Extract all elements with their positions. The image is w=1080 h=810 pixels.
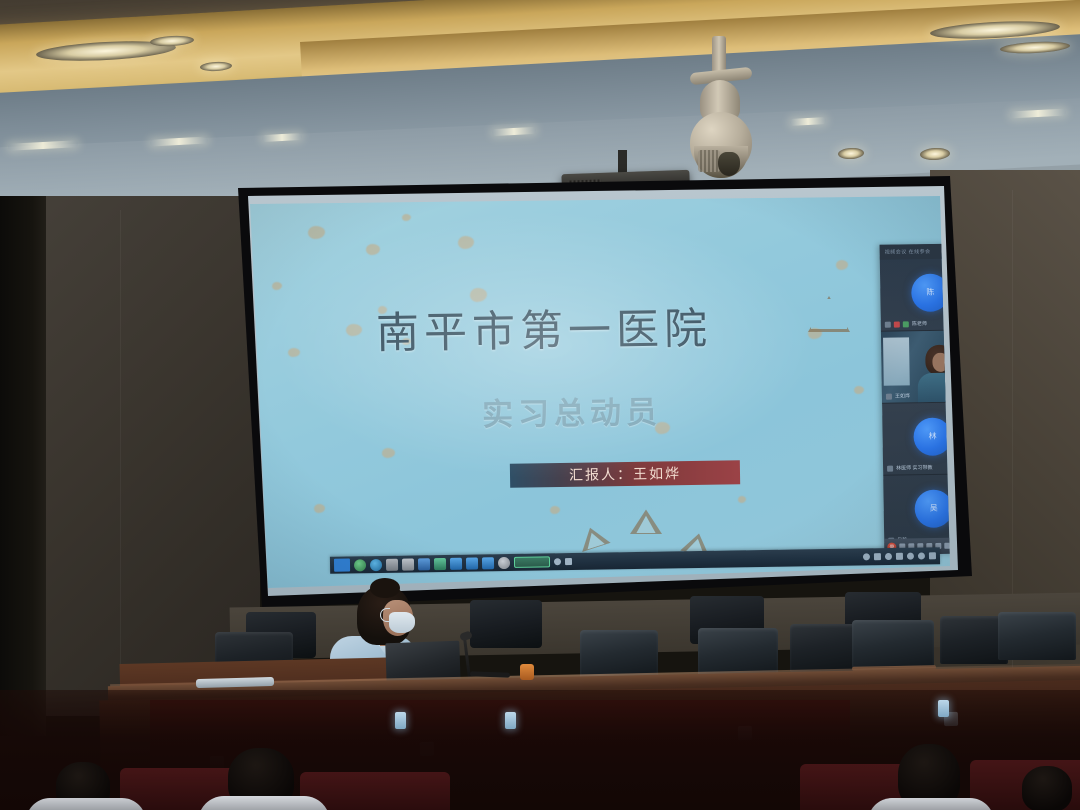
audience-phone-screen <box>395 712 406 729</box>
conference-hall-photo: 南平市第一医院 实习总动员 汇报人：王如烨 视频会议 在线参会 陈 陈老师 <box>0 0 1080 810</box>
projection-screen: 南平市第一医院 实习总动员 汇报人：王如烨 视频会议 在线参会 陈 陈老师 <box>250 196 950 588</box>
vc-participant-tile[interactable]: 吴 吴静 <box>883 474 950 548</box>
audience-head <box>1022 766 1072 810</box>
vc-participant-tile[interactable]: 陈 陈老师 <box>880 258 950 332</box>
audience-shoulders <box>868 798 994 810</box>
slide-decor-blob <box>288 348 300 357</box>
chair-back-row <box>470 600 542 648</box>
slide-presenter-name: 汇报人：王如烨 <box>569 463 681 485</box>
slide-decor-triangle-inner <box>575 522 610 552</box>
vc-participant-name-row: 王如烨 <box>886 392 910 399</box>
vc-participant-name-row: 林医师 实习带教 <box>887 464 932 472</box>
desk-object-orange <box>520 664 534 680</box>
slide-subtitle: 实习总动员 <box>482 387 663 435</box>
chair <box>998 612 1076 660</box>
slide-decor-blob <box>308 226 325 239</box>
tray-network-icon[interactable] <box>554 558 561 565</box>
mic-icon <box>886 393 892 399</box>
tray-sync-icon[interactable] <box>863 553 870 560</box>
host-icon <box>903 321 909 327</box>
vc-participant-tile[interactable]: 王如烨 <box>881 330 950 404</box>
start-icon[interactable] <box>334 558 350 571</box>
audience-phone-screen <box>505 712 516 729</box>
tray-extra-icon[interactable] <box>907 553 914 560</box>
vc-participant-label: 林医师 实习带教 <box>896 464 932 472</box>
slide-decor-blob <box>738 496 746 503</box>
vc-header-label: 视频会议 在线参会 <box>885 248 931 256</box>
slide-decor-blob <box>346 324 362 336</box>
vc-avatar: 吴 <box>914 489 950 528</box>
browser-icon[interactable] <box>354 559 366 571</box>
camera-off-icon <box>894 321 900 327</box>
chair <box>852 620 934 668</box>
tray-volume-icon[interactable] <box>565 558 572 565</box>
audience-phone-screen <box>938 700 949 717</box>
camera-ridges <box>698 150 720 172</box>
vc-participant-name-row: 陈老师 <box>885 320 927 328</box>
slide-decor-blob <box>550 506 560 514</box>
mic-icon <box>887 465 893 471</box>
slide-decor-blob <box>402 214 411 221</box>
slide-title: 南平市第一医院 <box>376 293 797 361</box>
taskbar-spacer <box>576 557 859 561</box>
vc-participant-label: 陈老师 <box>912 320 927 327</box>
vc-avatar: 林 <box>913 417 950 456</box>
folder-icon[interactable] <box>386 558 398 570</box>
tray-shield-icon[interactable] <box>885 553 892 560</box>
more-icon[interactable] <box>944 543 950 549</box>
audience-shoulders <box>26 798 146 810</box>
edge-icon[interactable] <box>370 558 382 570</box>
slide-decor-blob <box>836 260 848 270</box>
vc-background-window <box>883 337 910 385</box>
tray-battery-icon[interactable] <box>874 553 881 560</box>
vc-header: 视频会议 在线参会 <box>880 243 950 260</box>
video-conference-sidebar[interactable]: 视频会议 在线参会 陈 陈老师 <box>880 243 950 555</box>
chair <box>698 628 778 676</box>
mic-icon <box>885 321 891 327</box>
audience-shoulders <box>198 796 330 810</box>
slide-decor-blob <box>366 244 380 255</box>
app-icon[interactable] <box>498 556 510 568</box>
face-mask <box>389 612 415 633</box>
slide-presenter-banner: 汇报人：王如烨 <box>510 460 740 488</box>
left-wall-edge <box>0 196 46 736</box>
slide-decor-blob <box>382 448 395 458</box>
slide-decor-blob <box>854 386 864 394</box>
meeting-app3-icon[interactable] <box>482 557 494 569</box>
word-icon[interactable] <box>418 558 430 570</box>
camera-lens <box>718 152 740 176</box>
chair <box>790 624 860 672</box>
active-window-button[interactable] <box>514 556 550 568</box>
face-mask-strap <box>380 608 390 622</box>
chair <box>580 630 658 678</box>
tray-clock-icon[interactable] <box>929 552 936 559</box>
wall-seam <box>120 210 121 690</box>
tray-input-method-icon[interactable] <box>896 553 903 560</box>
meeting-app-icon[interactable] <box>450 557 462 569</box>
presenter-hair-bun <box>370 578 400 598</box>
powerpoint-icon[interactable] <box>434 557 446 569</box>
slide-decor-blob <box>272 282 282 290</box>
file-explorer-icon[interactable] <box>402 558 414 570</box>
slide-decor-triangle <box>808 296 844 326</box>
vc-participant-tile[interactable]: 林 林医师 实习带教 <box>882 402 950 476</box>
meeting-app2-icon[interactable] <box>466 557 478 569</box>
vc-participant-label: 王如烨 <box>895 392 910 399</box>
slide-decor-blob <box>314 504 325 513</box>
tray-extra2-icon[interactable] <box>918 552 925 559</box>
slide-decor-blob <box>458 236 474 249</box>
